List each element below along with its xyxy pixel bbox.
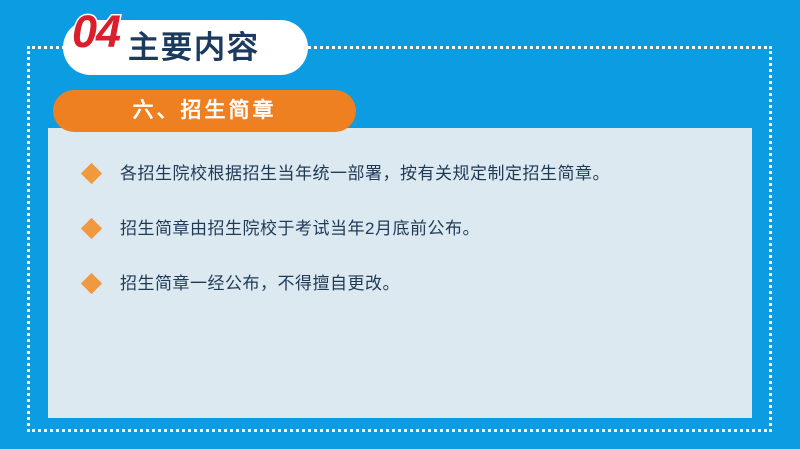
diamond-bullet-icon <box>81 218 102 239</box>
diamond-bullet-icon <box>81 163 102 184</box>
list-item-label: 各招生院校根据招生当年统一部署，按有关规定制定招生简章。 <box>120 160 610 187</box>
section-number: 04 <box>72 4 120 60</box>
bullet-list: 各招生院校根据招生当年统一部署，按有关规定制定招生简章。 招生简章由招生院校于考… <box>84 160 724 325</box>
list-item-label: 招生简章由招生院校于考试当年2月底前公布。 <box>120 215 480 242</box>
list-item: 招生简章一经公布，不得擅自更改。 <box>84 270 724 325</box>
list-item-label: 招生简章一经公布，不得擅自更改。 <box>120 270 400 297</box>
list-item: 各招生院校根据招生当年统一部署，按有关规定制定招生简章。 <box>84 160 724 215</box>
section-heading: 六、招生简章 <box>53 90 356 132</box>
diamond-bullet-icon <box>81 273 102 294</box>
list-item: 招生简章由招生院校于考试当年2月底前公布。 <box>84 215 724 270</box>
slide-canvas: 04 主要内容 六、招生简章 各招生院校根据招生当年统一部署，按有关规定制定招生… <box>0 0 800 449</box>
page-title: 主要内容 <box>128 24 260 72</box>
